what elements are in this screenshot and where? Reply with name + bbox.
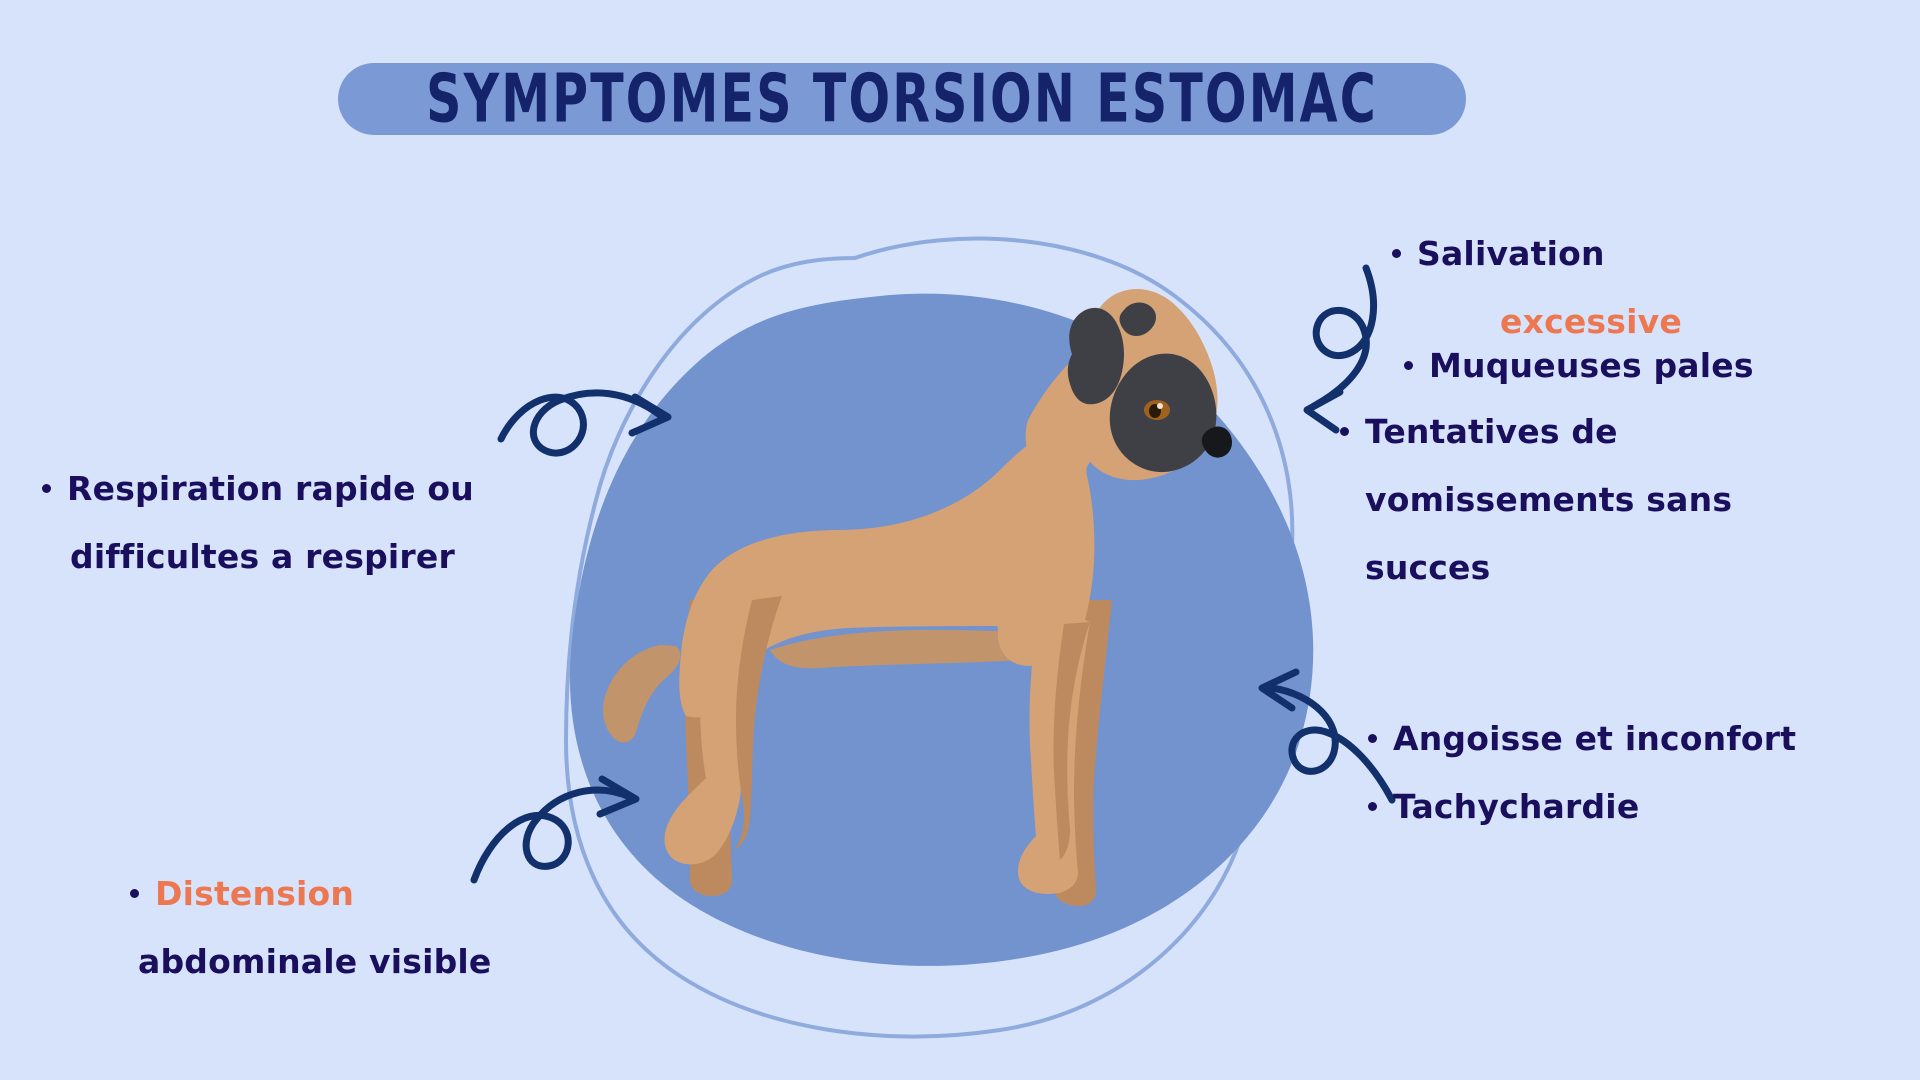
- callout-text: Muqueuses pales: [1429, 346, 1754, 385]
- list-item: Distension: [130, 860, 560, 928]
- dog-eye-highlight: [1157, 403, 1163, 409]
- callout-text: vomissements sans: [1365, 480, 1732, 519]
- callout-mucous-membranes: Muqueuses pales: [1404, 332, 1824, 400]
- list-item: Tachychardie: [1368, 773, 1868, 841]
- infographic-root: SYMPTOMES TORSION ESTOMAC: [0, 0, 1920, 1080]
- callout-text: Salivation: [1417, 234, 1605, 273]
- bullet-icon: [1368, 734, 1377, 743]
- callout-text: Tentatives de: [1365, 412, 1618, 451]
- callout-text-highlight: Distension: [155, 874, 354, 913]
- callout-breathing: Respiration rapide ou difficultes a resp…: [42, 455, 582, 591]
- bullet-icon: [1340, 427, 1349, 436]
- callout-vomiting: Tentatives de vomissements sans succes: [1340, 398, 1810, 602]
- list-item: Angoisse et inconfort: [1368, 705, 1868, 773]
- list-item-continuation: vomissements sans: [1340, 466, 1810, 534]
- list-item-continuation: succes: [1340, 534, 1810, 602]
- bullet-icon: [130, 889, 139, 898]
- callout-text: succes: [1365, 548, 1490, 587]
- list-item: Respiration rapide ou: [42, 455, 582, 523]
- callout-text: Tachychardie: [1393, 787, 1639, 826]
- bullet-icon: [42, 484, 51, 493]
- callout-text: Respiration rapide ou: [67, 469, 474, 508]
- list-item-continuation: abdominale visible: [130, 928, 560, 996]
- callout-text: Angoisse et inconfort: [1393, 719, 1796, 758]
- list-item-continuation: difficultes a respirer: [42, 523, 582, 591]
- list-item: Salivation: [1392, 220, 1812, 288]
- list-item: Muqueuses pales: [1404, 332, 1824, 400]
- bullet-icon: [1392, 249, 1401, 258]
- callout-text: abdominale visible: [138, 942, 492, 981]
- bullet-icon: [1368, 802, 1377, 811]
- bullet-icon: [1404, 361, 1413, 370]
- callout-text: difficultes a respirer: [70, 537, 455, 576]
- list-item: Tentatives de: [1340, 398, 1810, 466]
- dog-whisker-spot: [1133, 446, 1145, 464]
- callout-distension: Distension abdominale visible: [130, 860, 560, 996]
- callout-distress: Angoisse et inconfort Tachychardie: [1368, 705, 1868, 841]
